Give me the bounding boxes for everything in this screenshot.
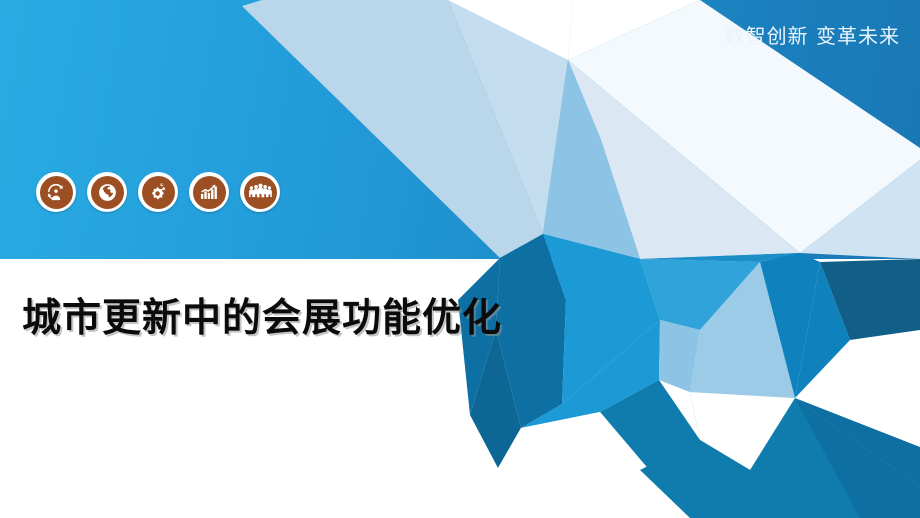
poly-slab-tail-edge	[795, 398, 920, 487]
page-title: 城市更新中的会展功能优化	[22, 297, 502, 342]
icon-strip	[36, 172, 280, 212]
icon-badge-globe[interactable]	[87, 172, 127, 212]
poly-pillar-dark-left	[496, 234, 566, 428]
poly-facet-bright-mid	[543, 234, 660, 404]
icon-badge-people-group[interactable]	[240, 172, 280, 212]
poly-accent-far-right-lower	[795, 262, 850, 398]
poly-facet-bright-low	[521, 320, 660, 428]
poly-pillar-dark-left-foot	[470, 330, 521, 468]
globe-icon	[91, 176, 124, 209]
icon-badge-gears[interactable]	[138, 172, 178, 212]
poly-tail-tip	[795, 398, 920, 518]
people-group-icon	[244, 176, 277, 209]
poly-facet-light-center	[640, 259, 760, 330]
poly-facet-pale-right	[690, 262, 795, 398]
icon-badge-bar-chart[interactable]	[189, 172, 229, 212]
poly-facet-dark-right	[760, 253, 820, 398]
poly-white-cutout-small	[659, 380, 700, 440]
recycle-person-icon	[40, 176, 73, 209]
slide-root: 数智创新 变革未来	[0, 0, 920, 518]
poly-accent-far-right	[820, 259, 920, 340]
poly-white-cutout	[498, 412, 690, 518]
poly-white-cutout-right	[690, 392, 795, 470]
poly-slab-tail	[600, 380, 920, 518]
icon-badge-recycle-person[interactable]	[36, 172, 76, 212]
gears-icon	[142, 176, 175, 209]
bar-chart-icon	[193, 176, 226, 209]
tagline: 数智创新 变革未来	[725, 26, 900, 46]
poly-tail-join	[640, 440, 750, 518]
poly-facet-pale-center	[659, 320, 700, 392]
